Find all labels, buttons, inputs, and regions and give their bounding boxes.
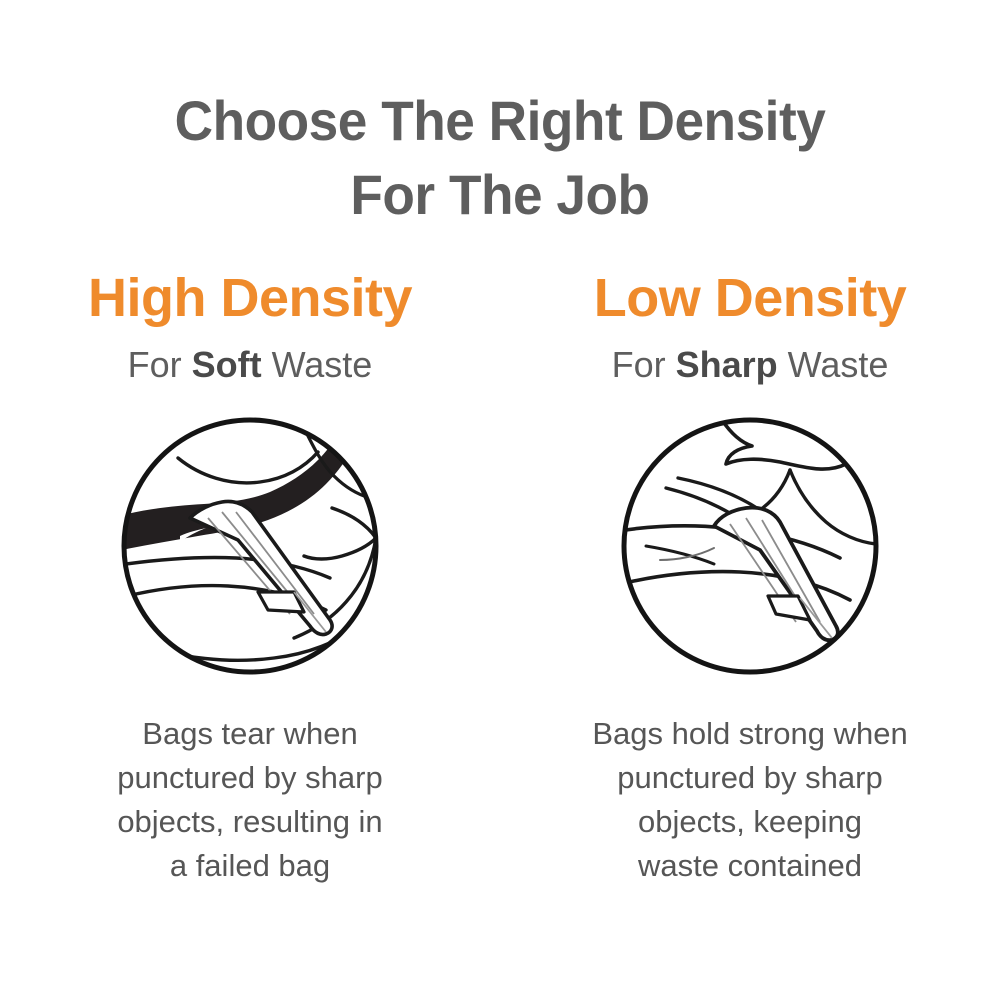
low-density-subheading: For Sharp Waste [612,342,889,388]
column-high-density: High Density For Soft Waste [0,268,500,888]
low-density-heading: Low Density [594,268,907,328]
low-density-illustration [618,414,882,678]
page-title: Choose The Right Density For The Job [0,84,1000,232]
low-density-caption: Bags hold strong when punctured by sharp… [530,712,970,888]
intact-bag-icon [618,414,882,678]
column-low-density: Low Density For Sharp Waste [500,268,1000,888]
high-density-sub-prefix: For [128,344,192,385]
high-density-illustration [118,414,382,678]
high-density-caption: Bags tear when punctured by sharp object… [30,712,470,888]
high-density-sub-emphasis: Soft [192,344,262,385]
page-title-line-1: Choose The Right Density [25,84,975,158]
high-density-heading: High Density [88,268,412,328]
high-density-sub-suffix: Waste [262,344,373,385]
infographic-page: Choose The Right Density For The Job Hig… [0,0,1000,1000]
page-title-line-2: For The Job [25,158,975,232]
high-density-subheading: For Soft Waste [128,342,373,388]
torn-bag-icon [118,414,382,678]
low-density-sub-prefix: For [612,344,676,385]
comparison-columns: High Density For Soft Waste [0,268,1000,888]
low-density-sub-emphasis: Sharp [676,344,778,385]
low-density-sub-suffix: Waste [778,344,889,385]
